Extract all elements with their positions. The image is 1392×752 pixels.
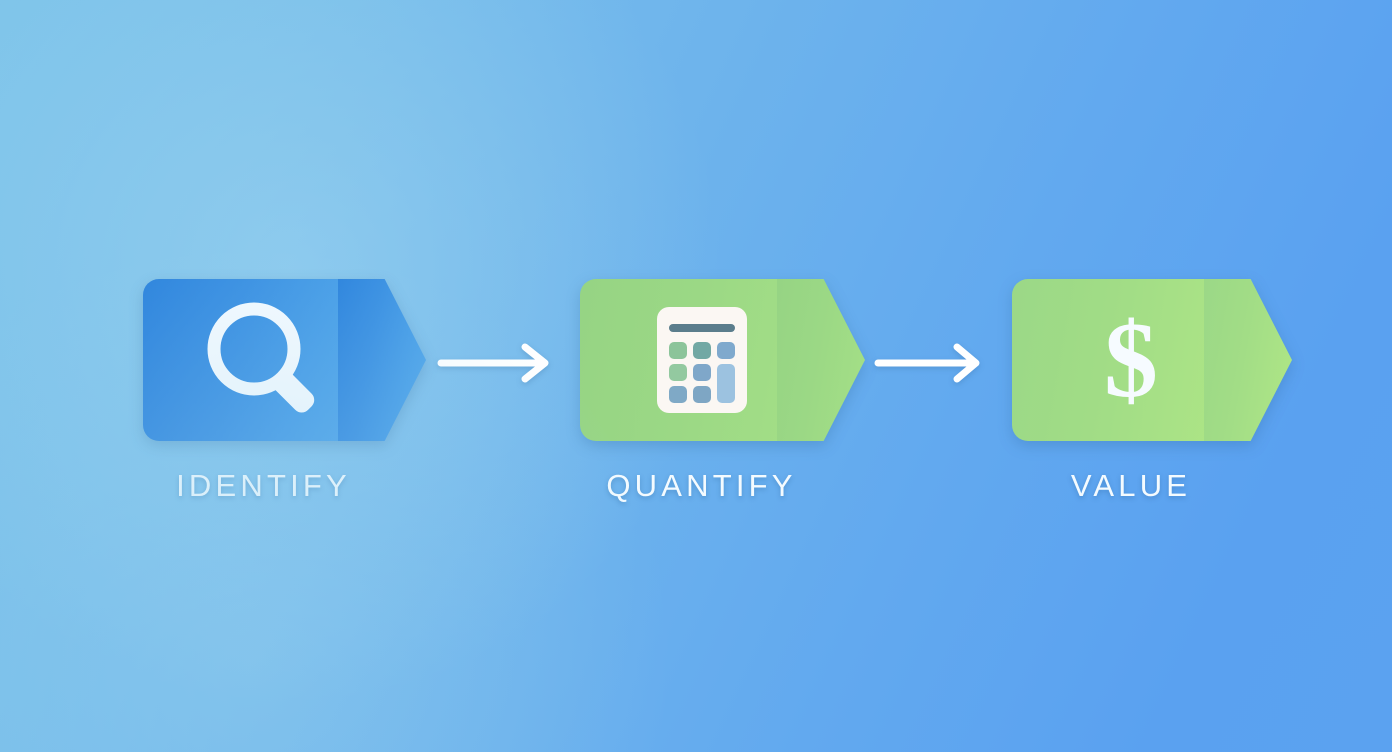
step-quantify-label: QUANTIFY xyxy=(580,468,823,504)
step-quantify[interactable] xyxy=(580,279,865,441)
magnifying-glass-icon xyxy=(143,279,384,441)
process-flow: IDENTIFY xyxy=(0,0,1392,752)
arrow-right-icon-2 xyxy=(874,343,984,383)
step-identify-label: IDENTIFY xyxy=(143,468,384,504)
dollar-sign-icon: $ xyxy=(1012,279,1250,441)
step-value-label: VALUE xyxy=(1012,468,1250,504)
diagram-canvas: IDENTIFY xyxy=(0,0,1392,752)
step-identify[interactable] xyxy=(143,279,426,441)
step-quantify-chevron xyxy=(580,279,865,441)
arrow-right-icon-1 xyxy=(437,343,553,383)
svg-text:$: $ xyxy=(1104,301,1158,419)
step-value-chevron: $ xyxy=(1012,279,1292,441)
step-identify-chevron xyxy=(143,279,426,441)
step-value[interactable]: $ xyxy=(1012,279,1292,441)
calculator-icon xyxy=(580,279,823,441)
